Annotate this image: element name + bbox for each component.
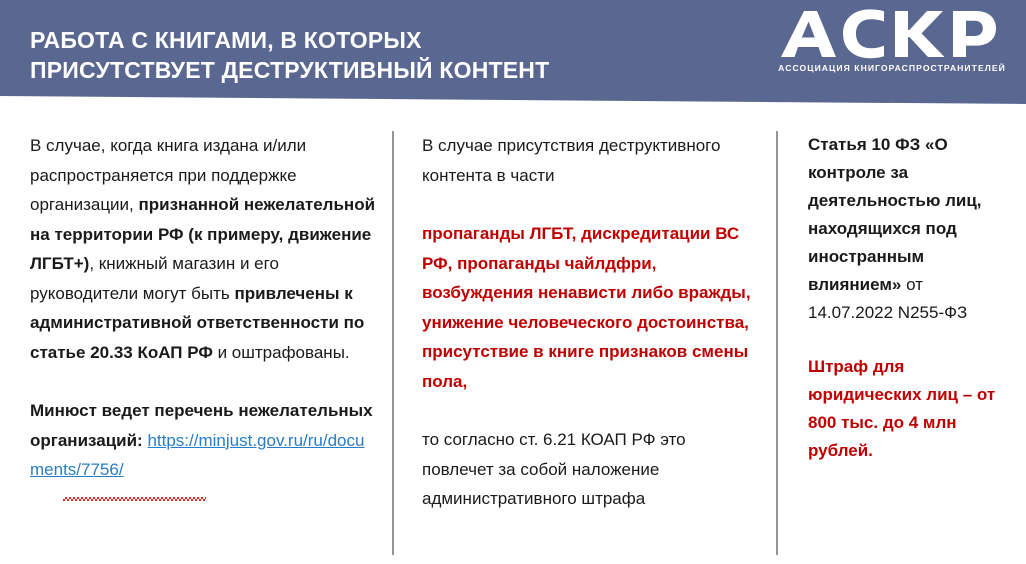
column-1-paragraph-1: В случае, когда книга издана и/или распр… (30, 131, 378, 367)
column-3-penalty-text: Штраф для юридических лиц – от 800 тыс. … (808, 353, 1008, 465)
askr-logo-subtitle: АССОЦИАЦИЯ КНИГОРАСПРОСТРАНИТЕЛЕЙ (770, 63, 1014, 73)
askr-logo: АССОЦИАЦИЯ КНИГОРАСПРОСТРАНИТЕЛЕЙ (770, 8, 1014, 73)
column-1-paragraph-2: Минюст ведет перечень нежелательных орга… (30, 396, 378, 485)
column-2-violations-list: пропаганды ЛГБТ, дискредитации ВС РФ, пр… (422, 219, 758, 396)
c3-law-title: Статья 10 ФЗ «О контроле за деятельность… (808, 135, 982, 294)
content-column-2: В случае присутствия деструктивного конт… (422, 131, 758, 514)
column-3-paragraph-1: Статья 10 ФЗ «О контроле за деятельность… (808, 131, 1008, 327)
slide: РАБОТА С КНИГАМИ, В КОТОРЫХ ПРИСУТСТВУЕТ… (0, 0, 1026, 564)
c1-p1-run-5: и оштрафованы. (213, 343, 350, 362)
column-2-spacer-1 (422, 190, 758, 219)
column-1-spacer (30, 367, 378, 396)
column-3-spacer (808, 327, 1008, 353)
content-column-1: В случае, когда книга издана и/или распр… (30, 131, 378, 485)
content-column-3: Статья 10 ФЗ «О контроле за деятельность… (808, 131, 1008, 465)
spellcheck-squiggle (63, 497, 206, 501)
column-2-paragraph-3: то согласно ст. 6.21 КОАП РФ это повлече… (422, 425, 758, 514)
column-divider-1 (392, 131, 394, 555)
page-title: РАБОТА С КНИГАМИ, В КОТОРЫХ ПРИСУТСТВУЕТ… (30, 25, 680, 85)
column-2-spacer-2 (422, 396, 758, 425)
column-divider-2 (776, 131, 778, 555)
column-2-paragraph-1: В случае присутствия деструктивного конт… (422, 131, 758, 190)
askr-logo-mark (770, 8, 1014, 60)
